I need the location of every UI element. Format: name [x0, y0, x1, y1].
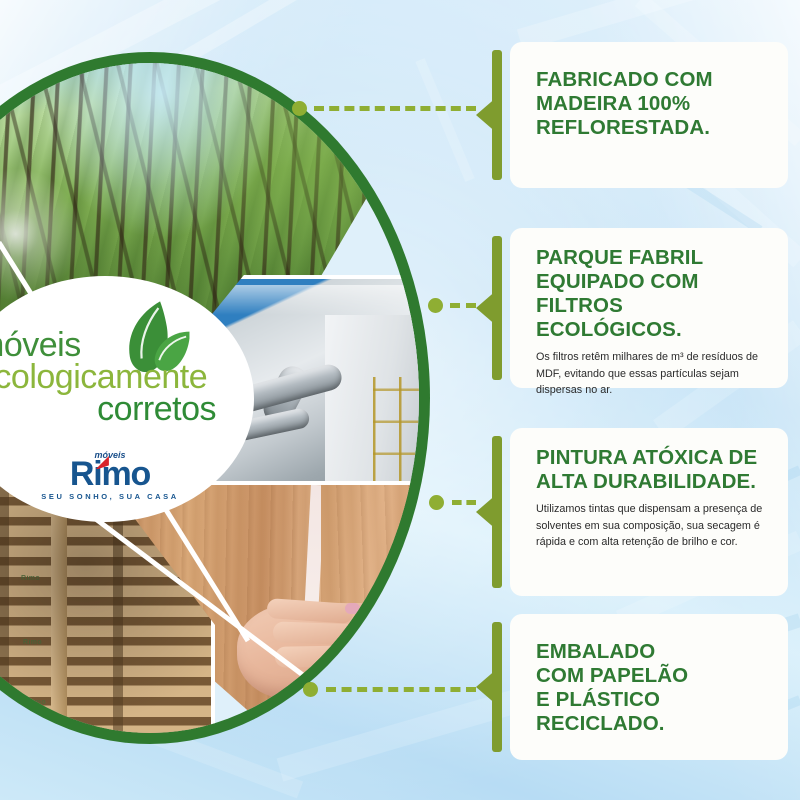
- card-title-line: COM PAPELÃO: [536, 664, 768, 688]
- connector-dot-3: [429, 495, 444, 510]
- card-title-line: RECICLADO.: [536, 712, 768, 736]
- rimo-wordmark: Rimo: [70, 457, 150, 491]
- eco-infographic-poster: Rimo Rimo Rimo Rimo Rimo Rimo Rimo Rimo: [0, 0, 800, 800]
- rimo-logo: móveis Rimo SEU SONHO, SUA CASA: [40, 450, 180, 501]
- connector-dashed-4: [326, 687, 476, 692]
- feature-card-filtros-ecologicos: PARQUE FABRIL EQUIPADO COM FILTROS ECOLÓ…: [510, 228, 788, 388]
- connector-dot-2: [428, 298, 443, 313]
- card-title: FABRICADO COM MADEIRA 100% REFLORESTADA.: [536, 68, 768, 140]
- feature-card-madeira-reflorestada: FABRICADO COM MADEIRA 100% REFLORESTADA.: [510, 42, 788, 188]
- card-title-line: FABRICADO COM: [536, 68, 768, 92]
- connector-dashed-1: [314, 106, 476, 111]
- card-title-line: FILTROS ECOLÓGICOS.: [536, 294, 768, 342]
- card-title-line: PARQUE FABRIL: [536, 246, 768, 270]
- card-title-line: E PLÁSTICO: [536, 688, 768, 712]
- rimo-wordmark-text: Rimo: [70, 455, 150, 493]
- fingernail: [361, 625, 376, 636]
- headline-line-2: ecologicamente: [0, 360, 232, 394]
- connector-dot-4: [303, 682, 318, 697]
- connector-dashed-2: [450, 303, 476, 308]
- headline-line-3: corretos: [0, 392, 232, 426]
- card-body-text: Utilizamos tintas que dispensam a presen…: [536, 501, 768, 551]
- brand-bubble: móveis ecologicamente corretos móveis Ri…: [0, 276, 254, 522]
- card-title: EMBALADO COM PAPELÃO E PLÁSTICO RECICLAD…: [536, 640, 768, 736]
- hand-finger: [273, 621, 370, 645]
- rimo-tagline: SEU SONHO, SUA CASA: [40, 492, 180, 501]
- card-title-line: MADEIRA 100%: [536, 92, 768, 116]
- card-title: PINTURA ATÓXICA DE ALTA DURABILIDADE.: [536, 446, 768, 494]
- feature-card-pintura-atoxica: PINTURA ATÓXICA DE ALTA DURABILIDADE. Ut…: [510, 428, 788, 596]
- connector-dashed-3: [452, 500, 476, 505]
- brand-headline: móveis ecologicamente corretos: [0, 328, 232, 426]
- fingernail: [345, 603, 360, 614]
- feature-card-embalagem-reciclada: EMBALADO COM PAPELÃO E PLÁSTICO RECICLAD…: [510, 614, 788, 760]
- card-title-line: EQUIPADO COM: [536, 270, 768, 294]
- factory-scaffold: [373, 377, 419, 487]
- connector-dot-1: [292, 101, 307, 116]
- card-body-text: Os filtros retêm milhares de m³ de resíd…: [536, 349, 768, 399]
- card-title-line: REFLORESTADA.: [536, 116, 768, 140]
- headline-line-1: móveis: [0, 328, 232, 362]
- card-title-line: EMBALADO: [536, 640, 768, 664]
- card-title-line: ALTA DURABILIDADE.: [536, 470, 768, 494]
- card-title: PARQUE FABRIL EQUIPADO COM FILTROS ECOLÓ…: [536, 246, 768, 342]
- card-title-line: PINTURA ATÓXICA DE: [536, 446, 768, 470]
